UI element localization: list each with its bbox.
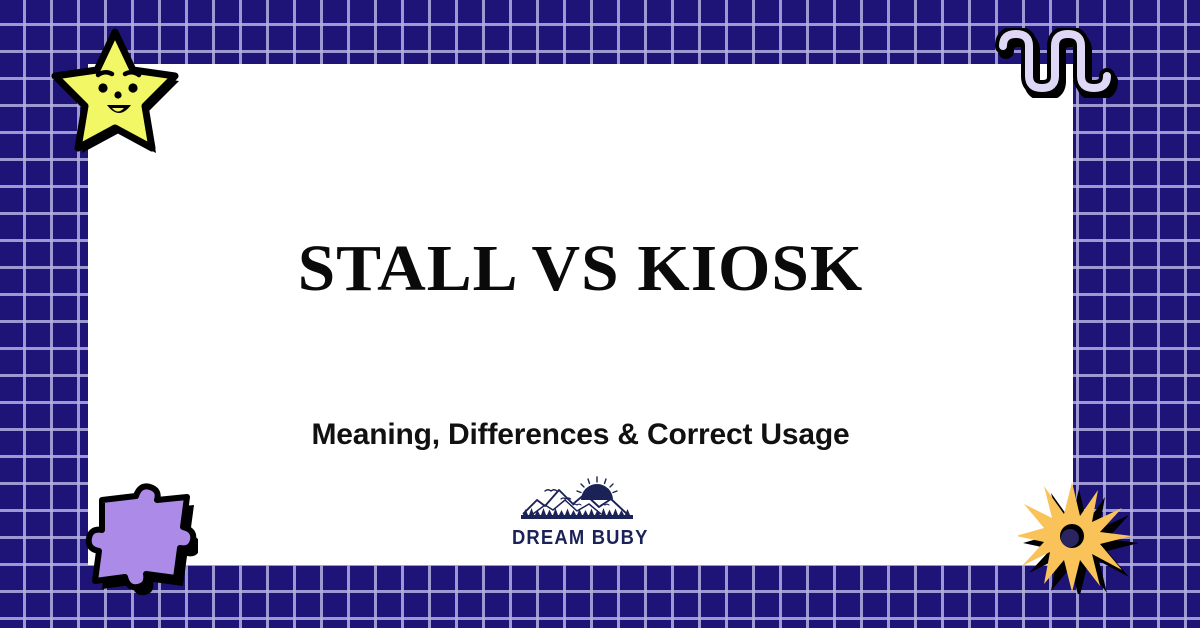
smiling-star-icon [48,22,184,163]
page-subtitle: Meaning, Differences & Correct Usage [88,420,1073,450]
wavy-squiggle-icon [993,28,1125,103]
brand-logo: DREAM BUBY [506,474,656,550]
poster-canvas: STALL VS KIOSK Meaning, Differences & Co… [0,0,1200,628]
brand-wordmark: DREAM BUBY [512,527,649,550]
eight-point-burst-icon [1018,478,1138,599]
puzzle-piece-icon [74,482,198,603]
page-title: STALL VS KIOSK [78,236,1083,302]
content-card: STALL VS KIOSK Meaning, Differences & Co… [88,64,1073,565]
mountain-sunrise-icon [515,474,647,526]
